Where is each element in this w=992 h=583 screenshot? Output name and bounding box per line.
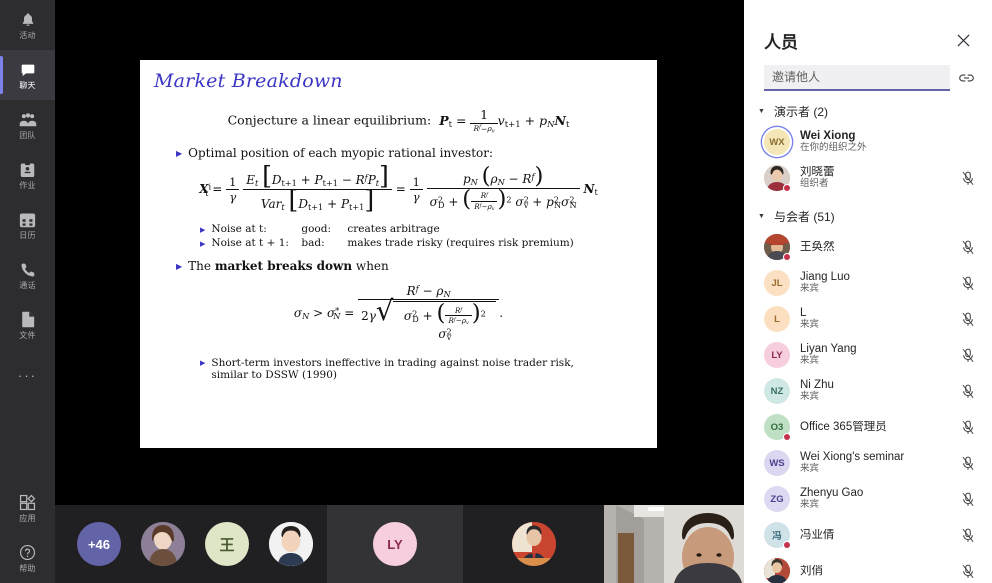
avatar-image: [764, 558, 790, 583]
filmstrip-tile-group[interactable]: +46 王: [55, 505, 327, 583]
participant-row[interactable]: JLJiang Luo来宾: [744, 265, 992, 301]
link-icon[interactable]: [958, 71, 978, 85]
bullet-short-term-investors: ▶ Short-term investors ineffective in tr…: [200, 357, 657, 381]
teams-icon: [19, 111, 37, 129]
bullet2-post: when: [352, 259, 389, 273]
mic-muted-icon[interactable]: [960, 312, 976, 327]
participant-row[interactable]: WSWei Xiong's seminar来宾: [744, 445, 992, 481]
participant-role: 组织者: [800, 179, 950, 190]
people-groups: ▼演示者 (2)WXWei Xiong在你的组织之外刘晓蕾组织者▼与会者 (51…: [744, 91, 992, 583]
app-rail: 活动 聊天 团队 作业 日历: [0, 0, 55, 583]
avatar-image: LY: [764, 342, 790, 368]
participant-role: 在你的组织之外: [800, 143, 950, 154]
rail-item-teams[interactable]: 团队: [0, 100, 55, 150]
bullet-market-breaks-down: ▶ The market breaks down when: [176, 259, 657, 274]
participant-name: Ni Zhu: [800, 379, 950, 392]
people-group-header-1[interactable]: ▼与会者 (51): [744, 196, 992, 229]
mic-muted-icon[interactable]: [960, 384, 976, 399]
noise-text-t: creates arbitrage: [347, 223, 439, 235]
bullet-triangle-icon: ▶: [200, 357, 205, 381]
participant-meta: 王奂然: [800, 241, 950, 254]
more-icon: ···: [18, 369, 37, 382]
assignments-icon: [20, 161, 35, 179]
rail-label-files: 文件: [19, 331, 36, 340]
conjecture-line: Conjecture a linear equilibrium: Pt = 1R…: [140, 108, 657, 134]
filmstrip-tile-photo3[interactable]: [463, 505, 604, 583]
participant-meta: Ni Zhu来宾: [800, 379, 950, 403]
avatar: O3: [764, 414, 790, 440]
participant-meta: L来宾: [800, 307, 950, 331]
rail-item-apps[interactable]: 应用: [0, 483, 55, 533]
bullet-market-breaks-text: The market breaks down when: [188, 259, 389, 274]
noise-text-t1: makes trade risky (requires risk premium…: [347, 237, 573, 249]
slide-body: Conjecture a linear equilibrium: Pt = 1R…: [140, 104, 657, 381]
bullet2-pre: The: [188, 259, 215, 273]
participant-video-feed[interactable]: [604, 505, 744, 583]
mic-muted-icon[interactable]: [960, 420, 976, 435]
rail-label-calls: 通话: [19, 281, 36, 290]
avatar: NZ: [764, 378, 790, 404]
participant-photo-1-avatar[interactable]: [141, 522, 185, 566]
filmstrip-tile-liyan[interactable]: LY: [327, 505, 463, 583]
participant-row[interactable]: 王奂然: [744, 229, 992, 265]
participant-meta: 刘晓蕾组织者: [800, 166, 950, 190]
avatar: 冯: [764, 522, 790, 548]
rail-label-assignments: 作业: [19, 181, 36, 190]
overflow-count-avatar[interactable]: +46: [77, 522, 121, 566]
participant-role: 来宾: [800, 320, 950, 331]
participant-name: L: [800, 307, 950, 320]
avatar: [764, 165, 790, 191]
help-icon: [19, 544, 36, 562]
participant-meta: Liyan Yang来宾: [800, 343, 950, 367]
bullet3-line1: Short-term investors ineffective in trad…: [211, 357, 574, 369]
participant-name: Wei Xiong's seminar: [800, 451, 950, 464]
participant-role: 来宾: [800, 356, 950, 367]
invite-row: [744, 59, 992, 91]
bell-icon: [20, 11, 36, 29]
mic-muted-icon[interactable]: [960, 240, 976, 255]
people-group-header-0[interactable]: ▼演示者 (2): [744, 91, 992, 124]
participant-row[interactable]: WXWei Xiong在你的组织之外: [744, 124, 992, 160]
bullet3-line2: similar to DSSW (1990): [211, 369, 337, 381]
participant-wang-avatar[interactable]: 王: [205, 522, 249, 566]
participant-role: 来宾: [800, 464, 950, 475]
participant-meta: 冯业倩: [800, 529, 950, 542]
participant-name: 刘俏: [800, 565, 950, 578]
participant-meta: Office 365管理员: [800, 421, 950, 434]
participant-ly-avatar[interactable]: LY: [373, 522, 417, 566]
calendar-icon: [19, 211, 36, 229]
status-badge: [783, 184, 791, 192]
people-panel-title: 人员: [764, 28, 798, 53]
invite-input-wrap: [764, 65, 950, 91]
avatar: WX: [764, 129, 790, 155]
rail-label-help: 帮助: [19, 564, 36, 573]
mic-muted-icon[interactable]: [960, 276, 976, 291]
equation-optimal-position: Xit = 1γ Et [Dt+1 + Pt+1 − RfPt] Vart [D…: [140, 167, 657, 212]
rail-label-calendar: 日历: [19, 231, 36, 240]
rail-label-teams: 团队: [19, 131, 36, 140]
avatar: [764, 558, 790, 583]
participant-meta: Jiang Luo来宾: [800, 271, 950, 295]
noise-verdict-t1: bad:: [301, 237, 341, 249]
people-group-label: 与会者 (51): [774, 208, 835, 225]
avatar-image: WS: [764, 450, 790, 476]
noise-table: ▶ Noise at t: good: creates arbitrage ▶ …: [200, 223, 657, 251]
bullet-optimal-position-text: Optimal position of each myopic rational…: [188, 146, 493, 161]
rail-label-activity: 活动: [19, 31, 36, 40]
noise-row-t1: ▶ Noise at t + 1: bad: makes trade risky…: [200, 237, 657, 251]
participant-role: 来宾: [800, 284, 950, 295]
files-icon: [21, 311, 35, 329]
chevron-down-icon[interactable]: ▼: [758, 213, 768, 220]
participant-meta: Wei Xiong's seminar来宾: [800, 451, 950, 475]
mic-muted-icon[interactable]: [960, 456, 976, 471]
invite-people-input[interactable]: [764, 65, 950, 91]
bullet-short-term-text: Short-term investors ineffective in trad…: [211, 357, 574, 381]
participant-row[interactable]: O3Office 365管理员: [744, 409, 992, 445]
participant-row[interactable]: 冯冯业倩: [744, 517, 992, 553]
participant-meta: Zhenyu Gao来宾: [800, 487, 950, 511]
mic-muted-icon[interactable]: [960, 528, 976, 543]
avatar-image: NZ: [764, 378, 790, 404]
participant-wang-initial: 王: [219, 534, 234, 555]
status-badge: [783, 253, 791, 261]
people-group-label: 演示者 (2): [774, 103, 828, 120]
participant-name: Zhenyu Gao: [800, 487, 950, 500]
participant-role: 来宾: [800, 500, 950, 511]
filmstrip-tile-video[interactable]: [604, 505, 744, 583]
avatar-image: L: [764, 306, 790, 332]
overflow-count-label: +46: [88, 537, 110, 552]
rail-label-chat: 聊天: [19, 81, 36, 90]
phone-icon: [20, 261, 36, 279]
participant-name: Jiang Luo: [800, 271, 950, 284]
noise-label-t: Noise at t:: [211, 223, 295, 235]
participant-row[interactable]: LL来宾: [744, 301, 992, 337]
participant-name: 冯业倩: [800, 529, 950, 542]
avatar: L: [764, 306, 790, 332]
teams-meeting-window: 活动 聊天 团队 作业 日历: [0, 0, 992, 583]
participant-meta: Wei Xiong在你的组织之外: [800, 130, 950, 154]
participant-filmstrip: +46 王 LY: [55, 505, 744, 583]
participant-name: Liyan Yang: [800, 343, 950, 356]
participant-row[interactable]: NZNi Zhu来宾: [744, 373, 992, 409]
rail-item-assignments[interactable]: 作业: [0, 150, 55, 200]
bullet-triangle-icon: ▶: [176, 259, 182, 274]
noise-label-t1: Noise at t + 1:: [211, 237, 295, 249]
participant-meta: 刘俏: [800, 565, 950, 578]
equation-sigma-threshold: σN > σ*N = Rf − ρN 2γ√σ2D + (RfRf−ρv)2 σ…: [140, 284, 657, 343]
participant-row[interactable]: 刘俏: [744, 553, 992, 583]
rail-label-apps: 应用: [19, 514, 36, 523]
participant-photo-3-avatar[interactable]: [512, 522, 556, 566]
participant-row[interactable]: 刘晓蕾组织者: [744, 160, 992, 196]
participant-role: 来宾: [800, 392, 950, 403]
avatar-image: JL: [764, 270, 790, 296]
avatar-image: WX: [764, 129, 790, 155]
participant-photo-2-avatar[interactable]: [269, 522, 313, 566]
bullet-optimal-position: ▶ Optimal position of each myopic ration…: [176, 146, 657, 161]
participant-ly-initials: LY: [387, 537, 402, 552]
rail-item-more[interactable]: ···: [0, 350, 55, 400]
bullet-triangle-icon: ▶: [200, 224, 205, 237]
avatar: WS: [764, 450, 790, 476]
avatar: LY: [764, 342, 790, 368]
bullet-triangle-icon: ▶: [200, 238, 205, 251]
meeting-stage: Market Breakdown Conjecture a linear equ…: [55, 0, 744, 583]
conjecture-label: Conjecture a linear equilibrium:: [228, 113, 432, 128]
noise-row-t: ▶ Noise at t: good: creates arbitrage: [200, 223, 657, 237]
participant-name: Office 365管理员: [800, 421, 950, 434]
apps-icon: [19, 494, 36, 512]
rail-item-calls[interactable]: 通话: [0, 250, 55, 300]
mic-muted-icon[interactable]: [960, 171, 976, 186]
noise-verdict-t: good:: [301, 223, 341, 235]
avatar: JL: [764, 270, 790, 296]
rail-item-calendar[interactable]: 日历: [0, 200, 55, 250]
participant-name: 王奂然: [800, 241, 950, 254]
mic-muted-icon[interactable]: [960, 564, 976, 579]
rail-item-activity[interactable]: 活动: [0, 0, 55, 50]
people-panel: 人员 ▼演示者 (2)WXWei Xiong在你的组织之外刘晓蕾组织者▼与会者 …: [744, 0, 992, 583]
avatar: [764, 234, 790, 260]
bullet2-bold: market breaks down: [215, 259, 352, 273]
rail-item-chat[interactable]: 聊天: [0, 50, 55, 100]
rail-item-files[interactable]: 文件: [0, 300, 55, 350]
mic-muted-icon[interactable]: [960, 348, 976, 363]
shared-slide[interactable]: Market Breakdown Conjecture a linear equ…: [140, 60, 657, 448]
status-badge: [783, 433, 791, 441]
chat-icon: [20, 61, 36, 79]
participant-row[interactable]: LYLiyan Yang来宾: [744, 337, 992, 373]
equation-price: Pt = 1Rf−ρvvt+1 + pNNt: [435, 113, 569, 128]
avatar-image: ZG: [764, 486, 790, 512]
participant-row[interactable]: ZGZhenyu Gao来宾: [744, 481, 992, 517]
bullet-triangle-icon: ▶: [176, 146, 182, 161]
mic-muted-icon[interactable]: [960, 492, 976, 507]
people-panel-header: 人员: [744, 0, 992, 59]
avatar: ZG: [764, 486, 790, 512]
rail-item-help[interactable]: 帮助: [0, 533, 55, 583]
chevron-down-icon[interactable]: ▼: [758, 108, 768, 115]
close-icon[interactable]: [952, 30, 974, 52]
slide-title: Market Breakdown: [154, 70, 343, 92]
status-badge: [783, 541, 791, 549]
